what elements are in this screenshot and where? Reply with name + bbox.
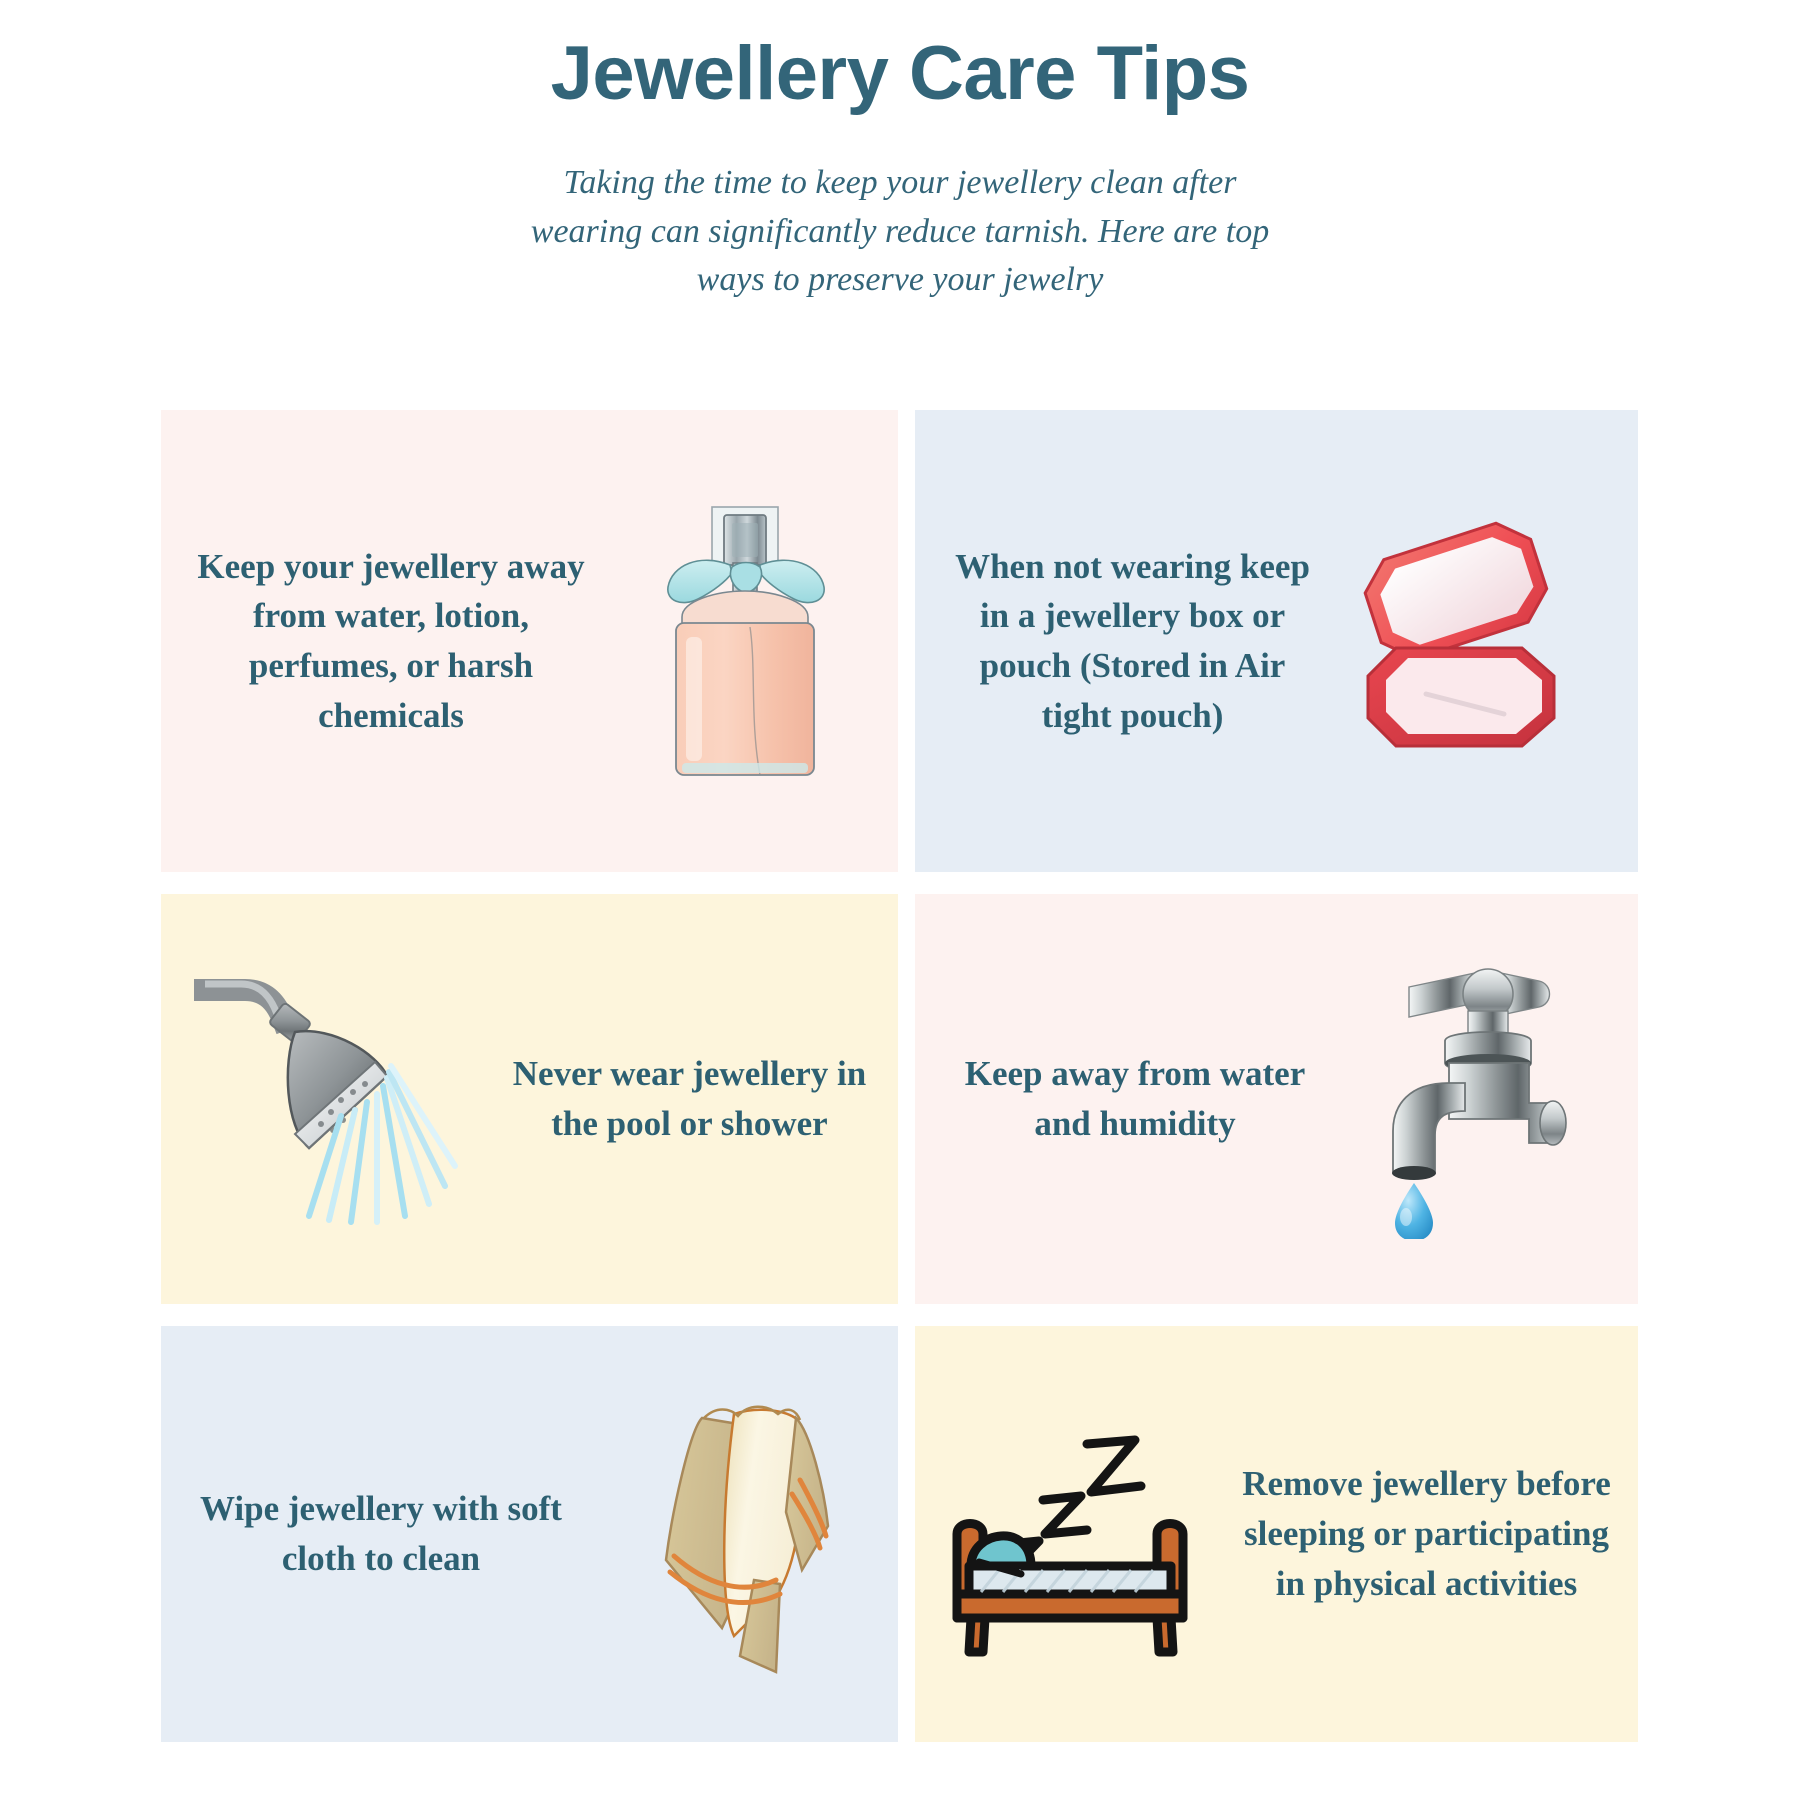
tip-card-wipe-with-cloth[interactable]: Wipe jewellery with soft cloth to clean bbox=[161, 1326, 898, 1742]
tip-card-no-pool-or-shower[interactable]: Never wear jewellery in the pool or show… bbox=[161, 894, 898, 1304]
tip-card-text: Keep your jewellery away from water, lot… bbox=[161, 542, 591, 741]
tip-card-away-from-chemicals[interactable]: Keep your jewellery away from water, lot… bbox=[161, 410, 898, 872]
ring-box-icon bbox=[1320, 516, 1638, 766]
tip-card-text: When not wearing keep in a jewellery box… bbox=[915, 542, 1320, 741]
tips-grid: Keep your jewellery away from water, lot… bbox=[161, 410, 1638, 1742]
tip-card-text: Wipe jewellery with soft cloth to clean bbox=[161, 1484, 591, 1583]
shower-head-icon bbox=[161, 954, 491, 1244]
faucet-icon bbox=[1335, 959, 1638, 1239]
bed-sleeping-icon bbox=[915, 1404, 1235, 1664]
tip-card-text: Keep away from water and humidity bbox=[915, 1049, 1335, 1148]
tip-card-away-from-water[interactable]: Keep away from water and humidity bbox=[915, 894, 1638, 1304]
infographic-page: Jewellery Care Tips Taking the time to k… bbox=[0, 0, 1800, 1800]
header: Jewellery Care Tips Taking the time to k… bbox=[0, 0, 1800, 304]
tip-card-remove-before-sleep[interactable]: Remove jewellery before sleeping or part… bbox=[915, 1326, 1638, 1742]
tip-card-text: Never wear jewellery in the pool or show… bbox=[491, 1049, 898, 1148]
page-title: Jewellery Care Tips bbox=[0, 0, 1800, 117]
perfume-bottle-icon bbox=[591, 491, 898, 791]
page-subtitle: Taking the time to keep your jewellery c… bbox=[505, 117, 1295, 304]
cloth-icon bbox=[591, 1384, 898, 1684]
tip-card-text: Remove jewellery before sleeping or part… bbox=[1235, 1459, 1638, 1608]
tip-card-store-in-box[interactable]: When not wearing keep in a jewellery box… bbox=[915, 410, 1638, 872]
